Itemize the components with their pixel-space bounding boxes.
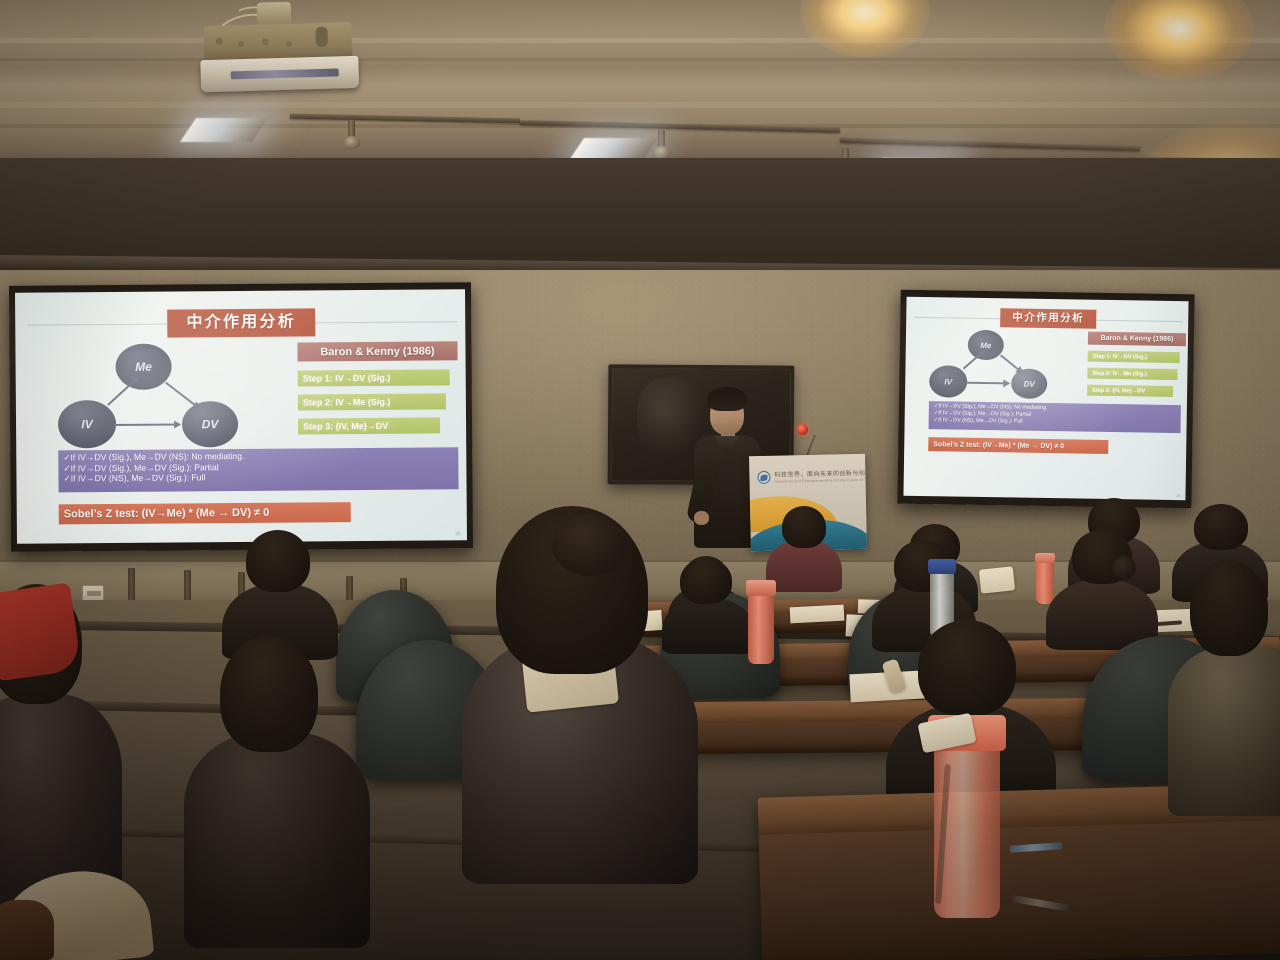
slide-citation: Baron & Kenny (1986) xyxy=(297,341,457,361)
bottle-coral xyxy=(748,592,774,664)
audience-person-foreground xyxy=(472,506,682,866)
person-hair-bun xyxy=(552,514,628,576)
slide-rule xyxy=(313,321,457,323)
microphone-indicator-icon xyxy=(797,424,808,435)
diagram-arrow-iv-dv xyxy=(114,423,180,426)
person-shoulders xyxy=(1168,646,1280,816)
projection-screen-left: 中介作用分析 Me IV DV Baron & Kenny (1986) Ste… xyxy=(9,282,473,552)
audience-person-right xyxy=(1180,560,1280,790)
slide-rule xyxy=(27,323,179,325)
person-hair xyxy=(680,558,732,604)
slide-title: 中介作用分析 xyxy=(1000,308,1096,329)
projector xyxy=(195,0,368,96)
slide-rule xyxy=(914,317,1008,319)
person-hair xyxy=(220,636,318,752)
diagram-arrow-iv-dv xyxy=(967,382,1009,385)
bottle-coral xyxy=(1036,560,1054,604)
ceiling xyxy=(0,0,1280,165)
condition-line: ✓If IV→DV (NS), Me→DV (Sig.): Full xyxy=(63,471,453,485)
ceiling-band xyxy=(0,102,1280,108)
slide-right: 中介作用分析 Me IV DV Baron & Kenny (1986) Ste… xyxy=(903,297,1188,500)
ceiling-band xyxy=(0,38,1280,43)
bottle-pink-foreground xyxy=(934,738,1000,918)
person-hair xyxy=(1194,504,1248,550)
person-hair xyxy=(918,620,1016,716)
person-shoulders xyxy=(184,732,370,948)
slide-step-2: Step 2: IV→Me (Sig.) xyxy=(298,393,446,410)
slide-step-1: Step 1: IV→DV (Sig.) xyxy=(298,369,450,386)
slide-rule xyxy=(1094,320,1182,322)
projector-lens xyxy=(231,68,339,79)
banner-title-en: Innovation and Entrepreneurship for the … xyxy=(775,478,867,484)
audience-person xyxy=(672,558,742,644)
slide-citation: Baron & Kenny (1986) xyxy=(1088,332,1186,347)
projection-screen-right: 中介作用分析 Me IV DV Baron & Kenny (1986) Ste… xyxy=(897,290,1194,509)
slide-step-3: Step 3: (IV, Me)→DV xyxy=(1087,385,1173,397)
presenter-hand xyxy=(694,511,709,525)
slide-left: 中介作用分析 Me IV DV Baron & Kenny (1986) Ste… xyxy=(15,289,467,544)
audience-person xyxy=(236,530,322,650)
slide-sobel-test: Sobel’s Z test: (IV→Me) * (Me → DV) ≠ 0 xyxy=(928,437,1108,454)
slide-page-number: 45 xyxy=(1176,493,1181,498)
diagram-node-me: Me xyxy=(968,330,1004,361)
person-hair xyxy=(782,506,826,548)
diagram-node-dv: DV xyxy=(182,401,238,447)
slide-step-1: Step 1: IV→DV (Sig.) xyxy=(1088,351,1180,363)
slide-sobel-test: Sobel’s Z test: (IV→Me) * (Me → DV) ≠ 0 xyxy=(59,502,351,524)
audience-person xyxy=(772,506,834,584)
slide-conditions: ✓If IV→DV (Sig.), Me→DV (NS): No mediati… xyxy=(929,401,1181,433)
spotlight-head xyxy=(344,136,360,149)
foreground-bag xyxy=(0,900,54,960)
slide-page-number: 45 xyxy=(455,531,461,537)
ceiling-band xyxy=(0,58,1280,61)
person-hair xyxy=(246,530,310,592)
diagram-node-iv: IV xyxy=(929,365,967,398)
tissue-pack xyxy=(979,566,1015,593)
person-hair-bun xyxy=(1112,556,1136,580)
lecture-hall-photo: 中介作用分析 Me IV DV Baron & Kenny (1986) Ste… xyxy=(0,0,1280,960)
institution-logo-icon xyxy=(757,471,770,484)
audience-person xyxy=(1060,530,1146,642)
diagram-arrow-me-dv xyxy=(165,382,200,409)
projector-body xyxy=(200,56,359,92)
audience-person-left xyxy=(196,636,346,936)
diagram-arrow-me-dv xyxy=(1000,355,1023,374)
diagram-node-me: Me xyxy=(115,344,171,390)
slide-title: 中介作用分析 xyxy=(167,308,315,337)
presenter-glasses xyxy=(712,408,742,414)
slide-step-3: Step 3: (IV, Me)→DV xyxy=(298,417,440,434)
person-hair xyxy=(1190,560,1268,656)
diagram-node-iv: IV xyxy=(58,400,116,448)
slide-conditions: ✓If IV→DV (Sig.), Me→DV (NS): No mediati… xyxy=(58,447,458,492)
paper-handout xyxy=(790,605,845,624)
slide-step-2: Step 2: IV→Me (Sig.) xyxy=(1087,368,1177,380)
